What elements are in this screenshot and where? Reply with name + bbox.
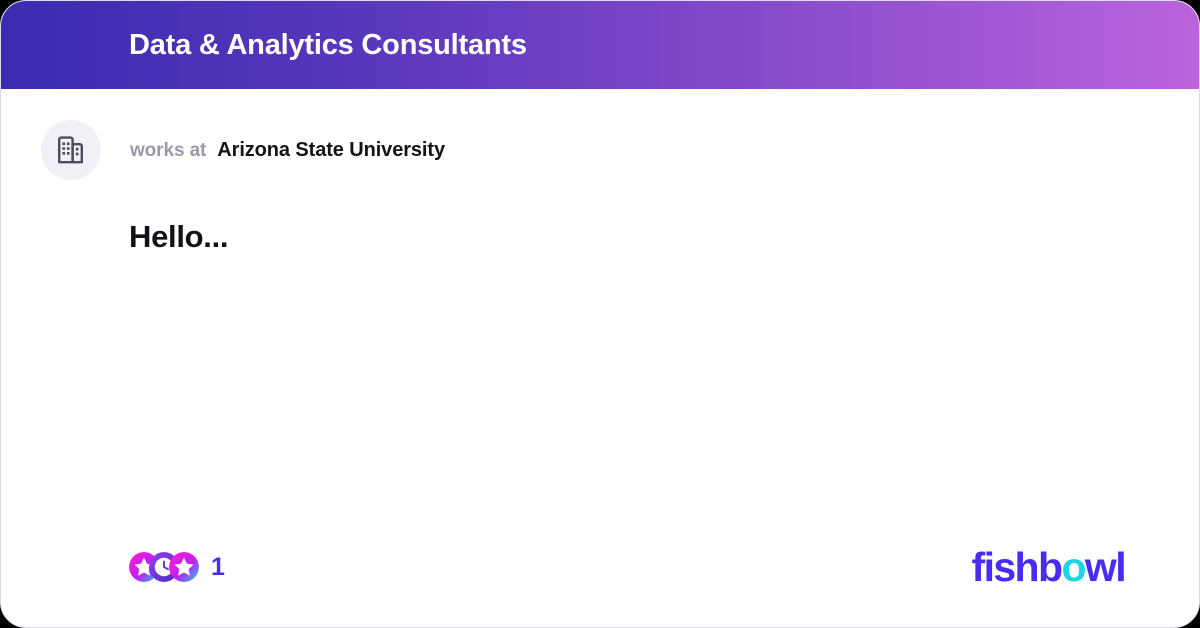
author-row: works at Arizona State University	[41, 120, 445, 180]
reactions-group[interactable]: 1	[129, 552, 225, 582]
star-reaction-icon	[169, 552, 199, 582]
post-text: Hello...	[129, 217, 1089, 257]
post-card: Data & Analytics Consultants	[0, 0, 1200, 628]
fishbowl-logo: fishbowl	[972, 547, 1125, 588]
works-at-label: works at	[130, 140, 206, 162]
company-name[interactable]: Arizona State University	[217, 139, 445, 162]
card-footer: 1 fishbowl	[1, 507, 1199, 627]
card-header: Data & Analytics Consultants	[1, 1, 1199, 89]
author-meta: works at Arizona State University	[130, 139, 445, 162]
office-building-icon	[54, 133, 88, 167]
reaction-icons	[129, 552, 199, 582]
brand-text-o: o	[1061, 547, 1084, 588]
reaction-count: 1	[211, 555, 225, 580]
card-body: works at Arizona State University Hello.…	[1, 89, 1199, 627]
brand-text-part2: wl	[1085, 547, 1125, 588]
group-title: Data & Analytics Consultants	[129, 31, 527, 60]
avatar	[41, 120, 101, 180]
brand-text-part1: fishb	[972, 547, 1062, 588]
